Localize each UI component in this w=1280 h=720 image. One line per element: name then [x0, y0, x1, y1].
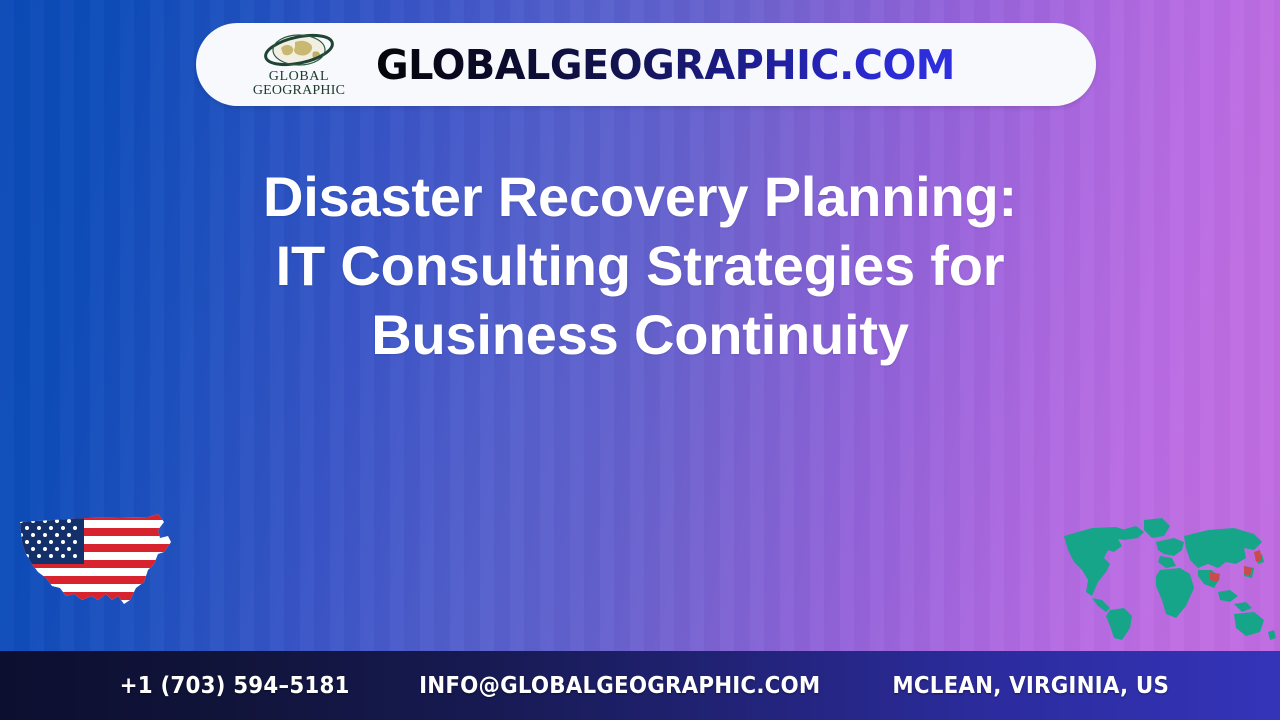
- brand-logo-text: GLOBAL GEOGRAPHIC: [253, 70, 345, 98]
- contact-footer: +1 (703) 594–5181 INFO@GLOBALGEOGRAPHIC.…: [0, 651, 1280, 720]
- brand-logo-line2: GEOGRAPHIC: [253, 84, 345, 98]
- brand-wordmark: GLOBALGEOGRAPHIC.COM: [376, 41, 955, 89]
- globe-with-ring-icon: [257, 32, 341, 68]
- footer-phone[interactable]: +1 (703) 594–5181: [120, 673, 350, 699]
- contact-footer-items: +1 (703) 594–5181 INFO@GLOBALGEOGRAPHIC.…: [101, 673, 1179, 699]
- brand-logo: GLOBAL GEOGRAPHIC: [244, 23, 354, 106]
- brand-header-pill: GLOBAL GEOGRAPHIC GLOBALGEOGRAPHIC.COM: [196, 23, 1096, 106]
- page-title: Disaster Recovery Planning: IT Consultin…: [240, 162, 1040, 369]
- brand-logo-line1: GLOBAL: [253, 70, 345, 84]
- footer-location: MCLEAN, VIRGINIA, US: [892, 673, 1169, 699]
- footer-email[interactable]: INFO@GLOBALGEOGRAPHIC.COM: [419, 673, 820, 699]
- usa-flag-map-icon: [8, 508, 188, 628]
- world-map-icon: [1048, 512, 1280, 642]
